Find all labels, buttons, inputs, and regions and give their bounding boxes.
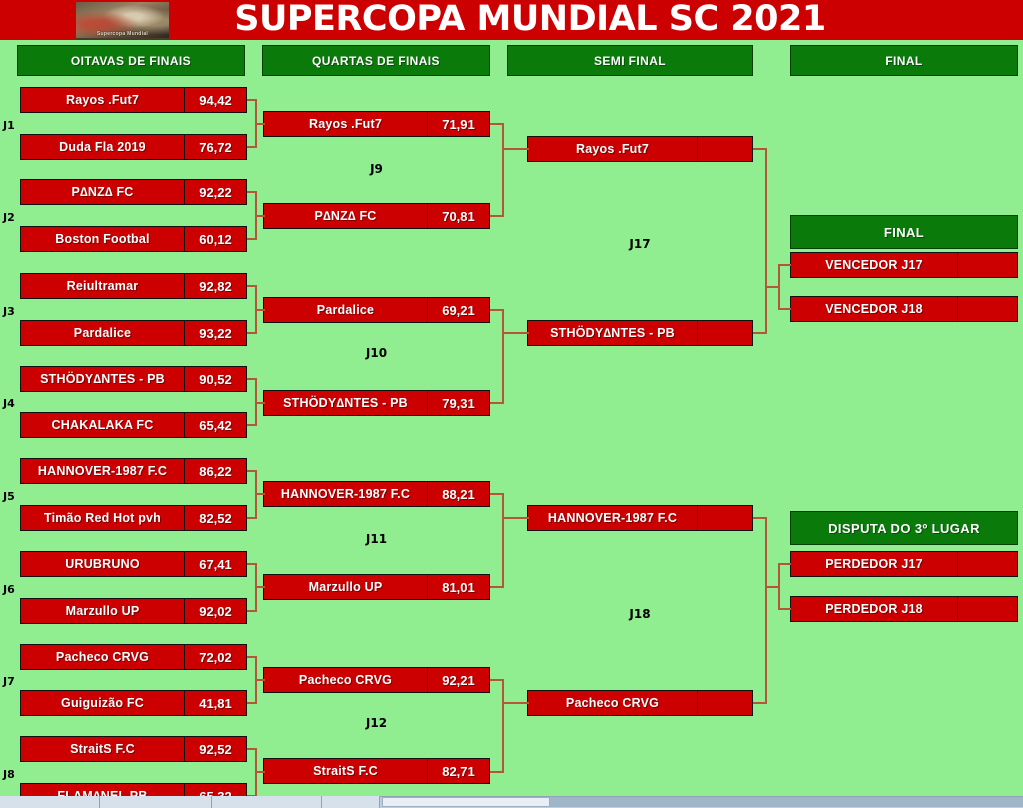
connector bbox=[255, 679, 265, 681]
team-name: Duda Fla 2019 bbox=[21, 135, 184, 159]
round-header-final: FINAL bbox=[790, 45, 1018, 76]
round-header-quartas: QUARTAS DE FINAIS bbox=[262, 45, 490, 76]
match-box[interactable]: Boston Footbal 60,12 bbox=[20, 226, 247, 252]
team-name: Rayos .Fut7 bbox=[21, 88, 184, 112]
match-label: J1 bbox=[3, 119, 15, 132]
team-score: 69,21 bbox=[427, 298, 489, 322]
connector bbox=[255, 215, 265, 217]
team-score: 92,22 bbox=[184, 180, 246, 204]
team-score: 70,81 bbox=[427, 204, 489, 228]
team-name: HANNOVER-1987 F.C bbox=[264, 482, 427, 506]
scrollbar-thumb[interactable] bbox=[382, 797, 550, 807]
team-score: 79,31 bbox=[427, 391, 489, 415]
match-box[interactable]: STHÖDY∆NTES - PB 79,31 bbox=[263, 390, 490, 416]
third-place-slot[interactable]: PERDEDOR J18 bbox=[790, 596, 1018, 622]
team-name: STHÖDY∆NTES - PB bbox=[264, 391, 427, 415]
match-box[interactable]: Pardalice 93,22 bbox=[20, 320, 247, 346]
team-name: STHÖDY∆NTES - PB bbox=[21, 367, 184, 391]
connector bbox=[502, 517, 529, 519]
team-name: Reiultramar bbox=[21, 274, 184, 298]
match-box[interactable]: Reiultramar 92,82 bbox=[20, 273, 247, 299]
team-score bbox=[957, 597, 1017, 621]
team-name: Pardalice bbox=[21, 321, 184, 345]
team-name: CHAKALAKA FC bbox=[21, 413, 184, 437]
connector bbox=[502, 679, 504, 773]
match-label: J2 bbox=[3, 211, 15, 224]
connector bbox=[255, 123, 265, 125]
connector bbox=[255, 586, 265, 588]
connector bbox=[255, 771, 265, 773]
match-label: J4 bbox=[3, 397, 15, 410]
connector bbox=[765, 517, 767, 704]
match-label: J17 bbox=[527, 237, 753, 251]
match-box[interactable]: Rayos .Fut7 94,42 bbox=[20, 87, 247, 113]
connector bbox=[502, 148, 529, 150]
team-score: 60,12 bbox=[184, 227, 246, 251]
final-slot[interactable]: VENCEDOR J18 bbox=[790, 296, 1018, 322]
team-score bbox=[697, 691, 752, 715]
connector bbox=[502, 309, 504, 404]
team-name: Boston Footbal bbox=[21, 227, 184, 251]
team-score bbox=[697, 506, 752, 530]
team-score: 92,21 bbox=[427, 668, 489, 692]
match-box[interactable]: Timão Red Hot pvh 82,52 bbox=[20, 505, 247, 531]
team-name: Guiguizão FC bbox=[21, 691, 184, 715]
connector bbox=[255, 309, 265, 311]
team-score: 71,91 bbox=[427, 112, 489, 136]
connector bbox=[778, 308, 791, 310]
sheet-tab[interactable] bbox=[0, 796, 100, 808]
match-label: J6 bbox=[3, 583, 15, 596]
team-score bbox=[957, 552, 1017, 576]
team-score: 82,71 bbox=[427, 759, 489, 783]
match-label: J12 bbox=[263, 716, 490, 730]
match-box[interactable]: Pacheco CRVG 72,02 bbox=[20, 644, 247, 670]
team-name: StraitS F.C bbox=[264, 759, 427, 783]
match-box[interactable]: Marzullo UP 92,02 bbox=[20, 598, 247, 624]
match-box[interactable]: Pacheco CRVG 92,21 bbox=[263, 667, 490, 693]
team-name: Timão Red Hot pvh bbox=[21, 506, 184, 530]
connector bbox=[502, 332, 529, 334]
team-score: 76,72 bbox=[184, 135, 246, 159]
team-name: Pardalice bbox=[264, 298, 427, 322]
match-box[interactable]: Pacheco CRVG bbox=[527, 690, 753, 716]
sheet-tab[interactable] bbox=[100, 796, 212, 808]
match-box[interactable]: HANNOVER-1987 F.C 88,21 bbox=[263, 481, 490, 507]
match-label: J5 bbox=[3, 490, 15, 503]
connector bbox=[778, 264, 791, 266]
third-place-title: DISPUTA DO 3º LUGAR bbox=[790, 511, 1018, 545]
match-box[interactable]: Marzullo UP 81,01 bbox=[263, 574, 490, 600]
round-header-semifinal: SEMI FINAL bbox=[507, 45, 753, 76]
connector bbox=[502, 493, 504, 588]
team-name: HANNOVER-1987 F.C bbox=[528, 506, 697, 530]
match-box[interactable]: StraitS F.C 82,71 bbox=[263, 758, 490, 784]
team-name: STHÖDY∆NTES - PB bbox=[528, 321, 697, 345]
match-label: J10 bbox=[263, 346, 490, 360]
match-box[interactable]: Pardalice 69,21 bbox=[263, 297, 490, 323]
sheet-tab[interactable] bbox=[322, 796, 380, 808]
connector bbox=[255, 402, 265, 404]
match-label: J9 bbox=[263, 162, 490, 176]
tournament-logo-icon: Supercopa Mundial bbox=[75, 1, 170, 39]
match-label: J18 bbox=[527, 607, 753, 621]
round-header-oitavas: OITAVAS DE FINAIS bbox=[17, 45, 245, 76]
connector bbox=[778, 608, 791, 610]
connector bbox=[502, 123, 504, 217]
team-name: Pacheco CRVG bbox=[528, 691, 697, 715]
connector bbox=[765, 148, 767, 334]
team-name: P∆NZ∆ FC bbox=[21, 180, 184, 204]
team-score: 92,02 bbox=[184, 599, 246, 623]
page-title: SUPERCOPA MUNDIAL SC 2021 bbox=[170, 0, 890, 40]
team-name: VENCEDOR J18 bbox=[791, 297, 957, 321]
match-label: J7 bbox=[3, 675, 15, 688]
connector bbox=[255, 493, 265, 495]
match-label: J8 bbox=[3, 768, 15, 781]
team-score: 93,22 bbox=[184, 321, 246, 345]
final-title: FINAL bbox=[790, 215, 1018, 249]
team-score: 41,81 bbox=[184, 691, 246, 715]
connector bbox=[778, 563, 780, 609]
match-box[interactable]: Rayos .Fut7 bbox=[527, 136, 753, 162]
team-score bbox=[957, 297, 1017, 321]
team-name: PERDEDOR J18 bbox=[791, 597, 957, 621]
team-name: URUBRUNO bbox=[21, 552, 184, 576]
match-box[interactable]: StraitS F.C 92,52 bbox=[20, 736, 247, 762]
final-slot[interactable]: VENCEDOR J17 bbox=[790, 252, 1018, 278]
team-score: 92,82 bbox=[184, 274, 246, 298]
match-box[interactable]: HANNOVER-1987 F.C bbox=[527, 505, 753, 531]
team-score: 88,21 bbox=[427, 482, 489, 506]
team-name: Pacheco CRVG bbox=[21, 645, 184, 669]
match-label: J11 bbox=[263, 532, 490, 546]
team-score: 90,52 bbox=[184, 367, 246, 391]
match-box[interactable]: STHÖDY∆NTES - PB bbox=[527, 320, 753, 346]
team-score: 67,41 bbox=[184, 552, 246, 576]
team-score: 92,52 bbox=[184, 737, 246, 761]
sheet-tab[interactable] bbox=[212, 796, 322, 808]
connector bbox=[778, 264, 780, 310]
connector bbox=[502, 702, 529, 704]
team-name: StraitS F.C bbox=[21, 737, 184, 761]
match-box[interactable]: P∆NZ∆ FC 70,81 bbox=[263, 203, 490, 229]
bracket-page: Supercopa Mundial SUPERCOPA MUNDIAL SC 2… bbox=[0, 0, 1023, 808]
match-box[interactable]: URUBRUNO 67,41 bbox=[20, 551, 247, 577]
team-score bbox=[697, 321, 752, 345]
match-box[interactable]: P∆NZ∆ FC 92,22 bbox=[20, 179, 247, 205]
match-box[interactable]: Guiguizão FC 41,81 bbox=[20, 690, 247, 716]
horizontal-scrollbar[interactable] bbox=[0, 796, 1023, 808]
team-score bbox=[957, 253, 1017, 277]
team-score: 81,01 bbox=[427, 575, 489, 599]
match-label: J3 bbox=[3, 305, 15, 318]
title-bar: Supercopa Mundial SUPERCOPA MUNDIAL SC 2… bbox=[0, 0, 1023, 40]
match-box[interactable]: CHAKALAKA FC 65,42 bbox=[20, 412, 247, 438]
team-name: VENCEDOR J17 bbox=[791, 253, 957, 277]
third-place-slot[interactable]: PERDEDOR J17 bbox=[790, 551, 1018, 577]
team-score: 65,42 bbox=[184, 413, 246, 437]
connector bbox=[778, 563, 791, 565]
team-name: Pacheco CRVG bbox=[264, 668, 427, 692]
team-name: P∆NZ∆ FC bbox=[264, 204, 427, 228]
team-score: 72,02 bbox=[184, 645, 246, 669]
team-name: Marzullo UP bbox=[21, 599, 184, 623]
team-name: Rayos .Fut7 bbox=[528, 137, 697, 161]
match-box[interactable]: Rayos .Fut7 71,91 bbox=[263, 111, 490, 137]
team-name: Rayos .Fut7 bbox=[264, 112, 427, 136]
team-score bbox=[697, 137, 752, 161]
team-score: 94,42 bbox=[184, 88, 246, 112]
match-box[interactable]: Duda Fla 2019 76,72 bbox=[20, 134, 247, 160]
team-name: HANNOVER-1987 F.C bbox=[21, 459, 184, 483]
logo-caption: Supercopa Mundial bbox=[76, 31, 169, 37]
match-box[interactable]: STHÖDY∆NTES - PB 90,52 bbox=[20, 366, 247, 392]
team-name: PERDEDOR J17 bbox=[791, 552, 957, 576]
team-score: 86,22 bbox=[184, 459, 246, 483]
team-name: Marzullo UP bbox=[264, 575, 427, 599]
team-score: 82,52 bbox=[184, 506, 246, 530]
match-box[interactable]: HANNOVER-1987 F.C 86,22 bbox=[20, 458, 247, 484]
